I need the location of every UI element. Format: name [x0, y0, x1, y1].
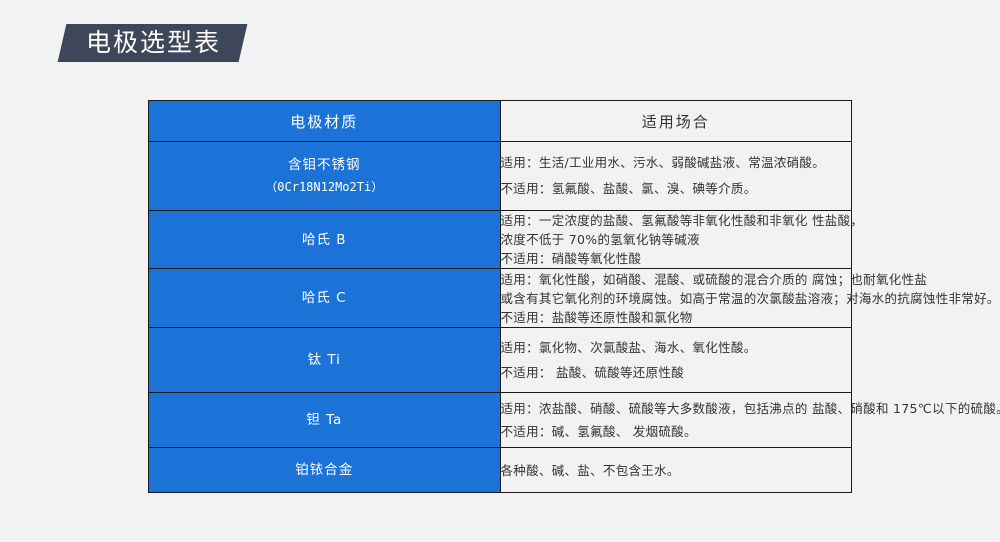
cell-material-name: 铂铱合金 — [149, 448, 501, 493]
usage-line: 浓度不低于 70%的氢氧化钠等碱液 — [501, 230, 852, 249]
usage-line: 各种酸、碱、盐、不包含王水。 — [501, 461, 852, 480]
electrode-selection-table: 电极材质 适用场合 含钼不锈钢 （0Cr18N12Mo2Ti） 适用：生活/工业… — [148, 100, 852, 493]
table-row: 铂铱合金 各种酸、碱、盐、不包含王水。 — [149, 448, 852, 493]
usage-line: 不适用： 盐酸、硫酸等还原性酸 — [501, 360, 852, 385]
table-row: 含钼不锈钢 （0Cr18N12Mo2Ti） 适用：生活/工业用水、污水、弱酸碱盐… — [149, 142, 852, 211]
table-row: 哈氏 C 适用：氧化性酸，如硝酸、混酸、或硫酸的混合介质的 腐蚀；也耐氧化性盐 … — [149, 269, 852, 328]
usage-line: 不适用：盐酸等还原性酸和氯化物 — [501, 308, 852, 327]
table-row: 钛 Ti 适用：氯化物、次氯酸盐、海水、氧化性酸。 不适用： 盐酸、硫酸等还原性… — [149, 328, 852, 393]
usage-line: 适用：氯化物、次氯酸盐、海水、氧化性酸。 — [501, 335, 852, 360]
usage-line: 不适用：碱、氢氟酸、 发烟硫酸。 — [501, 420, 852, 443]
banner-shape: 电极选型表 — [58, 24, 248, 62]
cell-material-name: 钽 Ta — [149, 393, 501, 448]
cell-material-name: 哈氏 B — [149, 211, 501, 269]
material-label: 钽 Ta — [306, 412, 342, 428]
material-label: 含钼不锈钢 — [288, 157, 361, 173]
table-body: 电极材质 适用场合 含钼不锈钢 （0Cr18N12Mo2Ti） 适用：生活/工业… — [149, 101, 852, 493]
cell-usage-description: 适用：氧化性酸，如硝酸、混酸、或硫酸的混合介质的 腐蚀；也耐氧化性盐 或含有其它… — [500, 269, 852, 328]
usage-line: 或含有其它氧化剂的环境腐蚀。如高于常温的次氯酸盐溶液；对海水的抗腐蚀性非常好。 — [501, 289, 852, 308]
usage-line: 适用：一定浓度的盐酸、氢氟酸等非氧化性酸和非氧化 性盐酸， — [501, 211, 852, 230]
cell-material-name: 钛 Ti — [149, 328, 501, 393]
table-header-row: 电极材质 适用场合 — [149, 101, 852, 142]
material-label: 钛 Ti — [308, 352, 341, 368]
cell-material-name: 含钼不锈钢 （0Cr18N12Mo2Ti） — [149, 142, 501, 211]
material-code: （0Cr18N12Mo2Ti） — [149, 177, 500, 197]
table-row: 钽 Ta 适用：浓盐酸、硝酸、硫酸等大多数酸液，包括沸点的 盐酸、硝酸和 175… — [149, 393, 852, 448]
material-label: 哈氏 C — [302, 290, 347, 306]
cell-usage-description: 适用：一定浓度的盐酸、氢氟酸等非氧化性酸和非氧化 性盐酸， 浓度不低于 70%的… — [500, 211, 852, 269]
page-title-banner: 电极选型表 — [62, 24, 243, 62]
column-header-material: 电极材质 — [149, 101, 501, 142]
table-row: 哈氏 B 适用：一定浓度的盐酸、氢氟酸等非氧化性酸和非氧化 性盐酸， 浓度不低于… — [149, 211, 852, 269]
usage-line: 适用：生活/工业用水、污水、弱酸碱盐液、常温浓硝酸。 — [501, 150, 852, 176]
cell-usage-description: 适用：生活/工业用水、污水、弱酸碱盐液、常温浓硝酸。 不适用：氢氟酸、盐酸、氯、… — [500, 142, 852, 211]
cell-usage-description: 适用：浓盐酸、硝酸、硫酸等大多数酸液，包括沸点的 盐酸、硝酸和 175℃以下的硫… — [500, 393, 852, 448]
page-title: 电极选型表 — [86, 24, 221, 62]
cell-usage-description: 各种酸、碱、盐、不包含王水。 — [500, 448, 852, 493]
usage-line: 不适用：氢氟酸、盐酸、氯、溴、碘等介质。 — [501, 176, 852, 202]
cell-material-name: 哈氏 C — [149, 269, 501, 328]
usage-line: 适用：浓盐酸、硝酸、硫酸等大多数酸液，包括沸点的 盐酸、硝酸和 175℃以下的硫… — [501, 397, 852, 420]
usage-line: 适用：氧化性酸，如硝酸、混酸、或硫酸的混合介质的 腐蚀；也耐氧化性盐 — [501, 270, 852, 289]
material-label: 哈氏 B — [302, 232, 347, 248]
cell-usage-description: 适用：氯化物、次氯酸盐、海水、氧化性酸。 不适用： 盐酸、硫酸等还原性酸 — [500, 328, 852, 393]
column-header-usage: 适用场合 — [500, 101, 852, 142]
material-label: 铂铱合金 — [295, 462, 353, 478]
usage-line: 不适用：硝酸等氧化性酸 — [501, 249, 852, 268]
electrode-selection-table-wrapper: 电极材质 适用场合 含钼不锈钢 （0Cr18N12Mo2Ti） 适用：生活/工业… — [148, 100, 852, 493]
